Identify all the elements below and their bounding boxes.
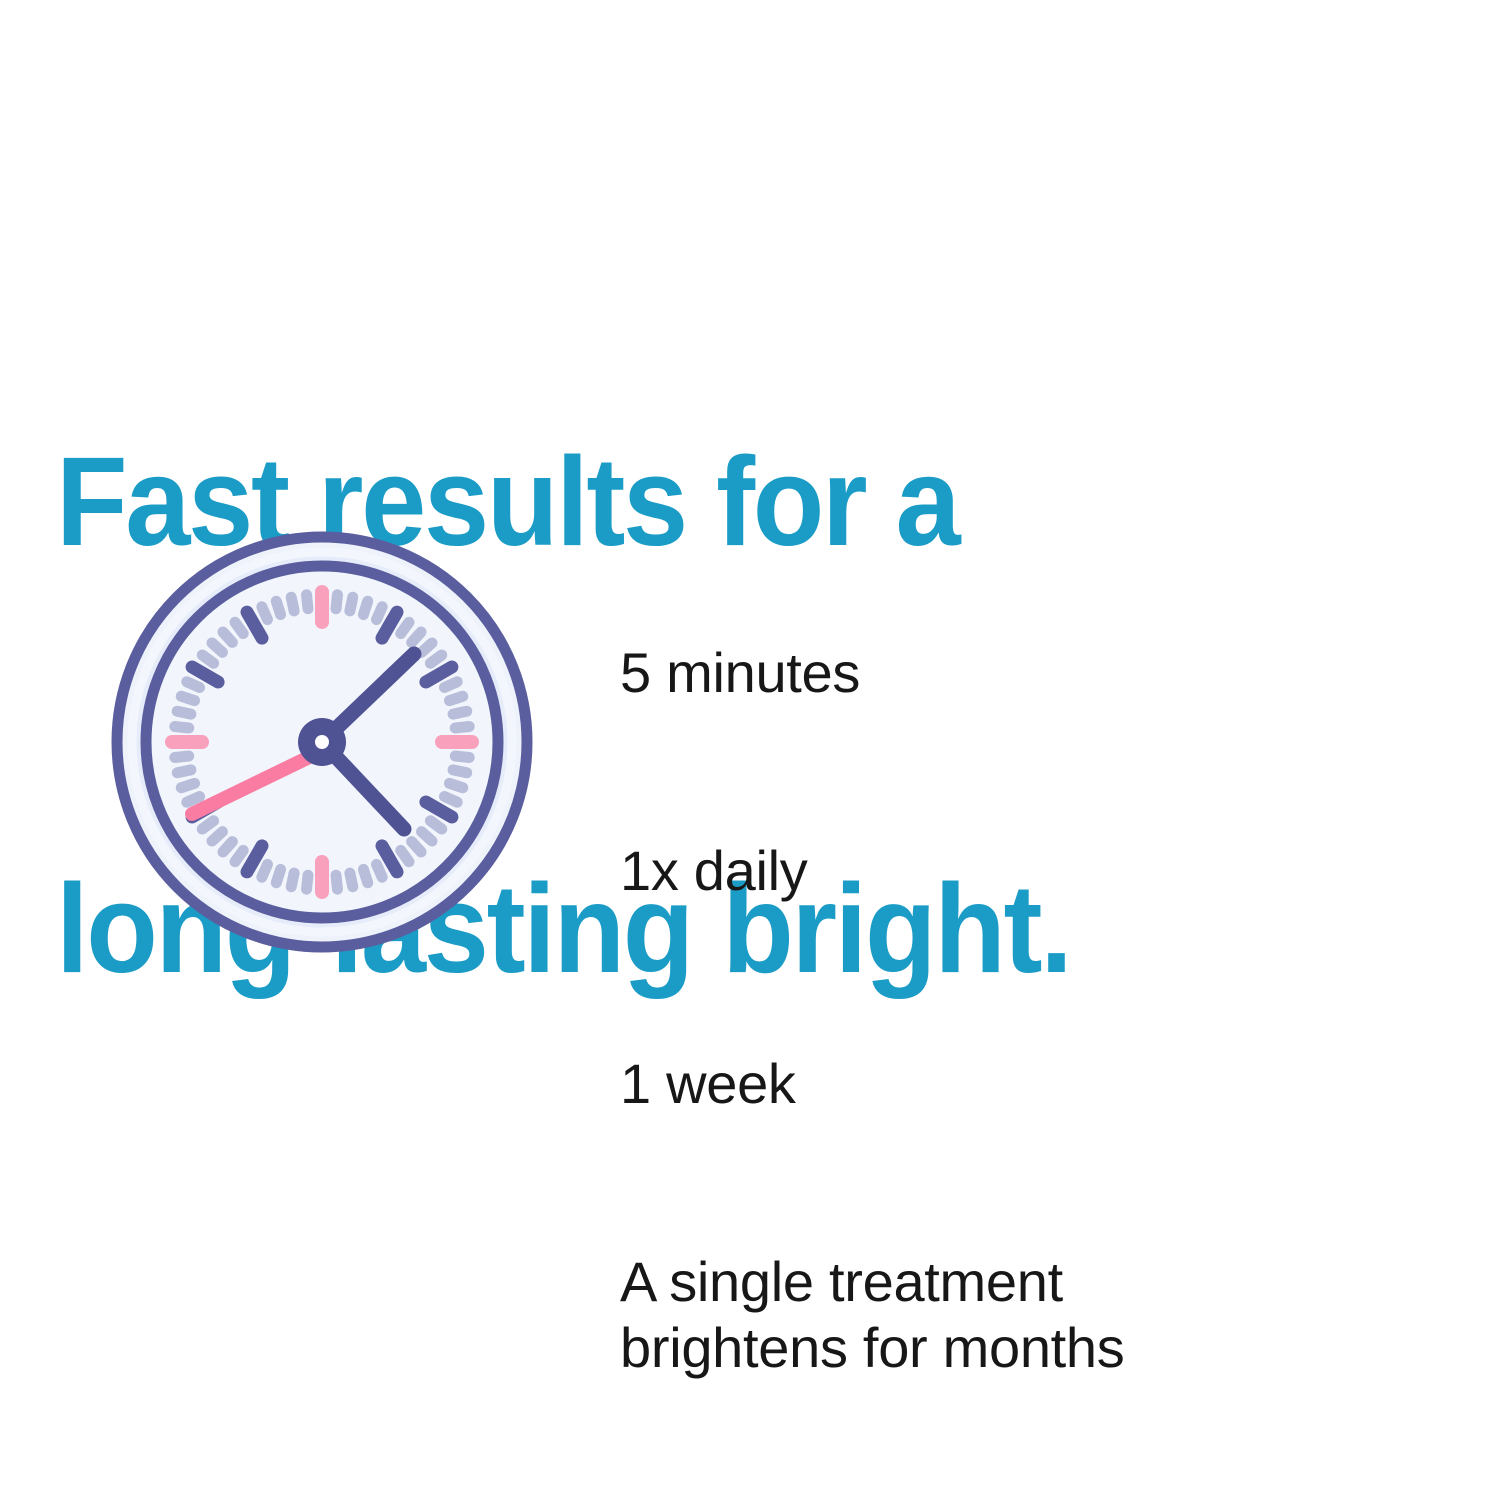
clock-minute-tick bbox=[187, 682, 200, 688]
benefit-course-length: 1 week bbox=[620, 1051, 796, 1117]
clock-minute-tick bbox=[422, 832, 432, 841]
clock-minute-tick bbox=[212, 832, 222, 841]
clock-minute-tick bbox=[363, 869, 367, 882]
clock-minute-tick bbox=[377, 607, 383, 620]
clock-icon bbox=[104, 524, 540, 960]
clock-minute-tick bbox=[175, 756, 189, 757]
clock-minute-tick bbox=[444, 682, 457, 688]
clock-minute-tick bbox=[291, 873, 294, 887]
clock-minute-tick bbox=[444, 797, 457, 803]
clock-minute-tick bbox=[187, 797, 200, 803]
clock-minute-tick bbox=[177, 770, 191, 773]
clock-minute-tick bbox=[401, 850, 409, 861]
clock-minute-tick bbox=[276, 869, 280, 882]
clock-center-dot bbox=[315, 735, 329, 749]
infographic-canvas: Fast results for a long-lasting bright. bbox=[0, 0, 1500, 1500]
clock-minute-tick bbox=[276, 601, 280, 614]
clock-minute-tick bbox=[377, 864, 383, 877]
clock-minute-tick bbox=[307, 875, 308, 889]
clock-minute-tick bbox=[363, 601, 367, 614]
clock-minute-tick bbox=[449, 783, 462, 787]
clock-minute-tick bbox=[202, 821, 213, 829]
clock-minute-tick bbox=[212, 643, 222, 652]
clock-minute-tick bbox=[412, 842, 421, 852]
clock-minute-tick bbox=[350, 873, 353, 887]
clock-minute-tick bbox=[401, 622, 409, 633]
clock-minute-tick bbox=[455, 756, 469, 757]
clock-minute-tick bbox=[235, 850, 243, 861]
clock-minute-tick bbox=[262, 864, 268, 877]
clock-minute-tick bbox=[412, 632, 421, 642]
clock-minute-tick bbox=[455, 727, 469, 728]
clock-minute-tick bbox=[175, 727, 189, 728]
clock-minute-tick bbox=[181, 783, 194, 787]
clock-minute-tick bbox=[223, 842, 232, 852]
clock-minute-tick bbox=[181, 696, 194, 700]
clock-minute-tick bbox=[177, 711, 191, 714]
benefit-duration: 5 minutes bbox=[620, 640, 860, 706]
clock-minute-tick bbox=[336, 595, 337, 609]
clock-minute-tick bbox=[307, 595, 308, 609]
clock-minute-tick bbox=[422, 643, 432, 652]
benefit-longevity: A single treatment brightens for months bbox=[620, 1249, 1124, 1381]
clock-minute-tick bbox=[291, 597, 294, 611]
clock-minute-tick bbox=[453, 770, 467, 773]
clock-minute-tick bbox=[235, 622, 243, 633]
clock-minute-tick bbox=[430, 655, 441, 663]
clock-minute-tick bbox=[202, 655, 213, 663]
benefit-frequency: 1x daily bbox=[620, 838, 807, 904]
clock-minute-tick bbox=[336, 875, 337, 889]
clock-minute-tick bbox=[430, 821, 441, 829]
clock-minute-tick bbox=[449, 696, 462, 700]
clock-minute-tick bbox=[223, 632, 232, 642]
clock-minute-tick bbox=[350, 597, 353, 611]
clock-minute-tick bbox=[262, 607, 268, 620]
clock-minute-tick bbox=[453, 711, 467, 714]
